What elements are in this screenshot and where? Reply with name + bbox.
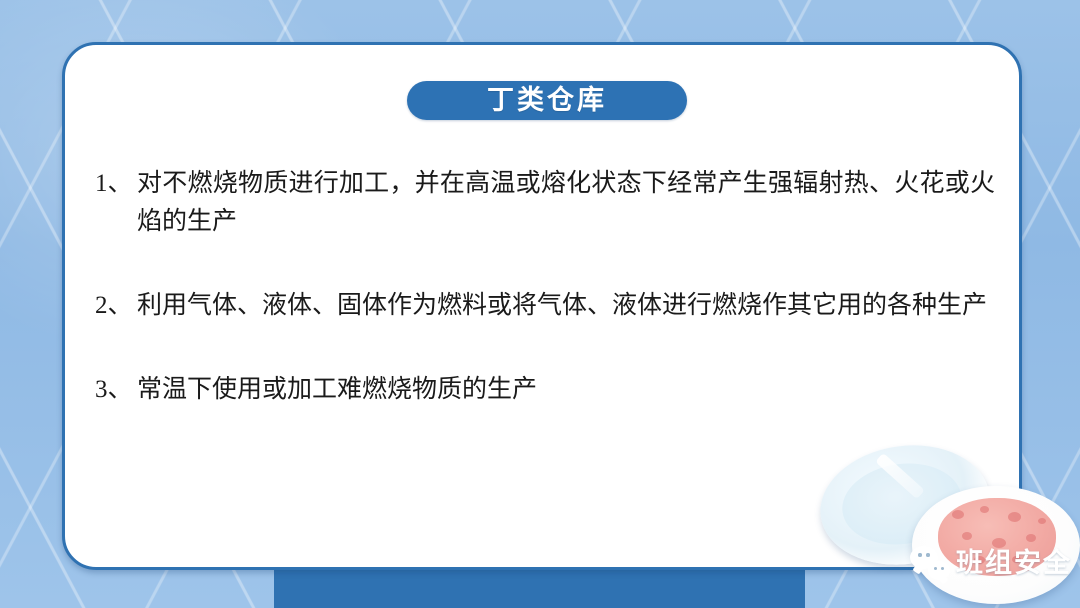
content-card: 丁类仓库 1、 对不燃烧物质进行加工，并在高温或熔化状态下经常产生强辐射热、火花… — [62, 42, 1022, 570]
list-item-text: 常温下使用或加工难燃烧物质的生产 — [137, 371, 995, 409]
slide-root: 丁类仓库 1、 对不燃烧物质进行加工，并在高温或熔化状态下经常产生强辐射热、火花… — [0, 0, 1080, 608]
list-item-marker: 2、 — [95, 287, 137, 325]
wechat-eye — [926, 553, 930, 557]
list-item-marker: 1、 — [95, 165, 137, 203]
content-list: 1、 对不燃烧物质进行加工，并在高温或熔化状态下经常产生强辐射热、火花或火焰的生… — [95, 165, 995, 409]
title-pill: 丁类仓库 — [407, 81, 687, 120]
wechat-bubble-small — [928, 561, 950, 580]
wechat-eye — [934, 567, 938, 571]
food-dot — [1038, 518, 1046, 524]
list-item-marker: 3、 — [95, 371, 137, 409]
watermark-label: 班组安全 — [956, 550, 1072, 577]
list-item: 1、 对不燃烧物质进行加工，并在高温或熔化状态下经常产生强辐射热、火花或火焰的生… — [95, 165, 995, 241]
list-item-text: 利用气体、液体、固体作为燃料或将气体、液体进行燃烧作其它用的各种生产 — [137, 287, 995, 325]
list-item: 2、 利用气体、液体、固体作为燃料或将气体、液体进行燃烧作其它用的各种生产 — [95, 287, 995, 325]
page-title: 丁类仓库 — [487, 87, 607, 114]
watermark: 班组安全 — [910, 546, 1072, 580]
bottom-accent-band — [274, 566, 805, 608]
wechat-icon — [910, 546, 950, 580]
wechat-eye — [918, 553, 922, 557]
list-item: 3、 常温下使用或加工难燃烧物质的生产 — [95, 371, 995, 409]
food-dot — [1026, 534, 1036, 542]
wechat-eye — [941, 567, 945, 571]
list-item-text: 对不燃烧物质进行加工，并在高温或熔化状态下经常产生强辐射热、火花或火焰的生产 — [137, 165, 995, 241]
